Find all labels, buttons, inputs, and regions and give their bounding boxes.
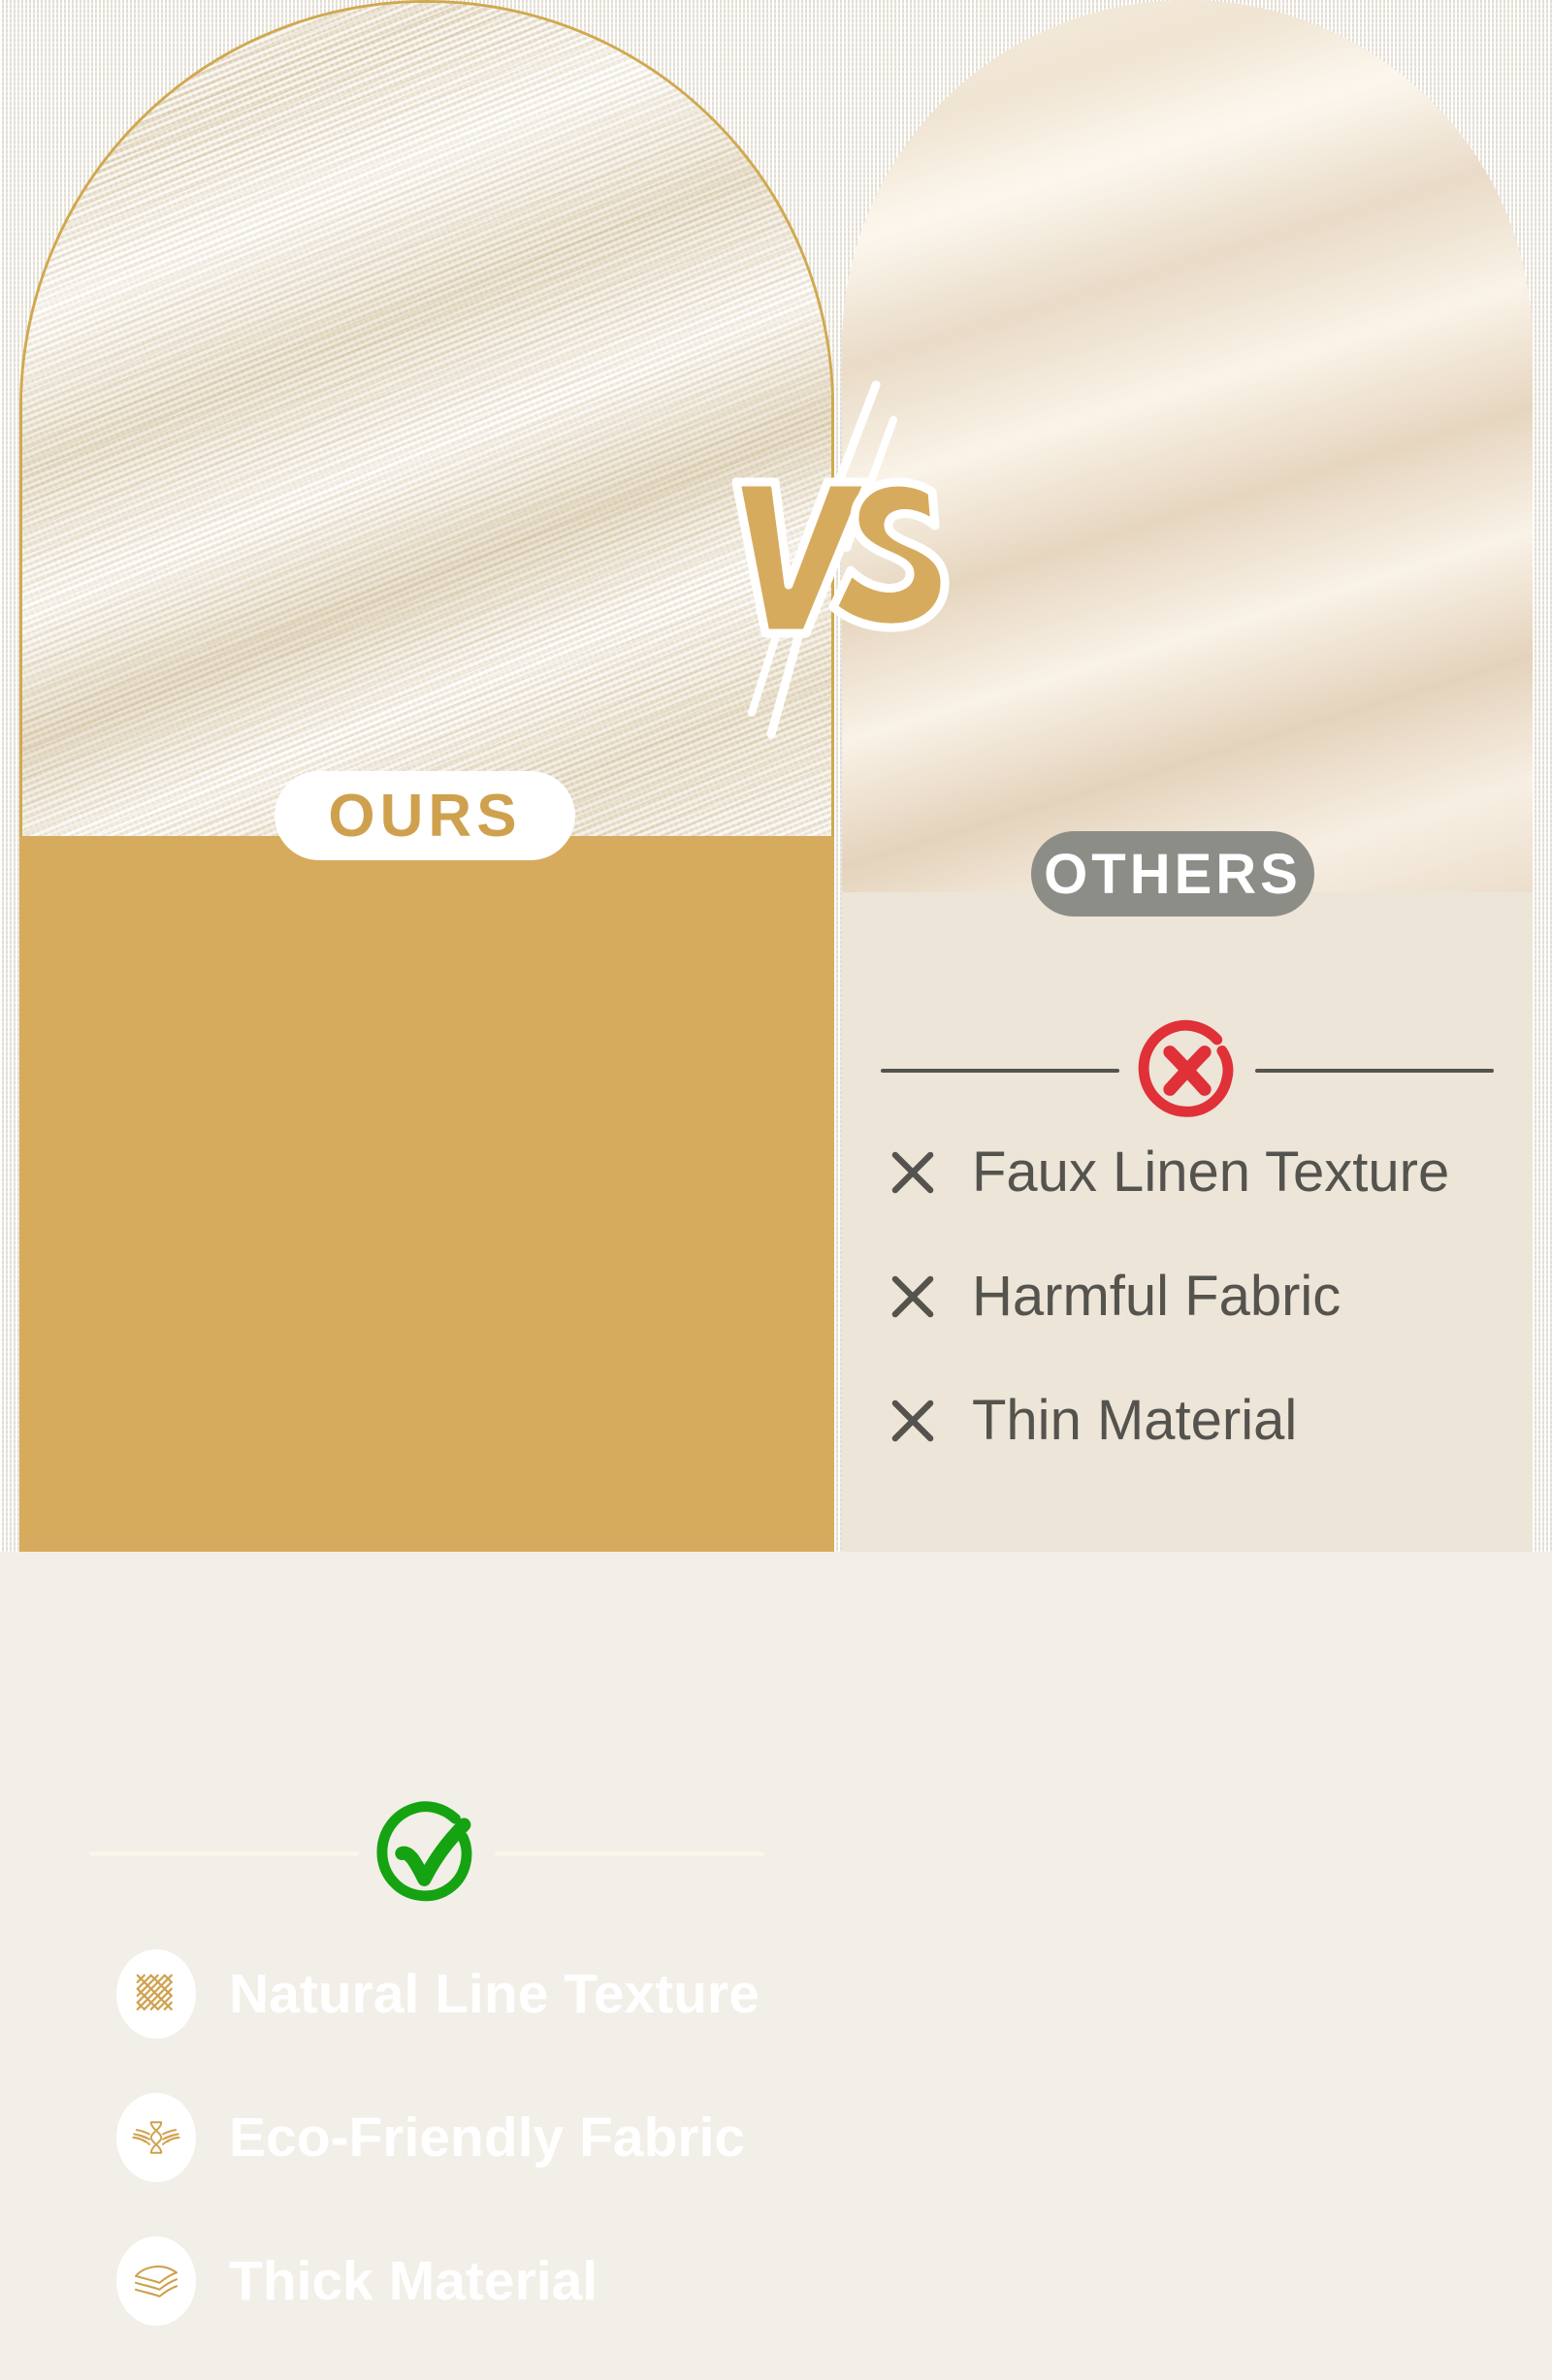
- divider-rule-left: [881, 1069, 1119, 1073]
- comparison-infographic: Natural Line Texture: [0, 0, 1552, 1552]
- list-item: Eco-Friendly Fabric: [116, 2093, 834, 2182]
- weave-texture-icon: [116, 1949, 196, 2039]
- divider-rule-right: [1255, 1069, 1494, 1073]
- list-item: Thin Material: [883, 1391, 1552, 1451]
- check-circle-icon: [365, 1791, 489, 1915]
- ours-verdict-divider: [19, 1791, 834, 1915]
- list-item: Thick Material: [116, 2236, 834, 2326]
- winged-hourglass-icon: [116, 2093, 196, 2182]
- feature-label: Harmful Fabric: [972, 1269, 1341, 1325]
- feature-label: Faux Linen Texture: [972, 1144, 1449, 1201]
- feature-label: Thick Material: [229, 2254, 598, 2309]
- others-feature-list: Faux Linen Texture Harmful Fabric Thin M…: [0, 1142, 1552, 1515]
- divider-rule-left: [89, 1851, 359, 1856]
- feature-label: Eco-Friendly Fabric: [229, 2110, 745, 2166]
- ours-badge: OURS: [275, 771, 575, 860]
- ours-feature-list: Natural Line Texture: [19, 1949, 834, 2380]
- feature-label: Thin Material: [972, 1393, 1297, 1449]
- cross-circle-icon: [1125, 1009, 1249, 1133]
- list-item: Natural Line Texture: [116, 1949, 834, 2039]
- others-fabric-photo: [842, 0, 1533, 912]
- others-photo-arch: [842, 0, 1533, 912]
- x-icon: [883, 1142, 943, 1203]
- x-icon: [883, 1267, 943, 1327]
- layers-icon: [116, 2236, 196, 2326]
- list-item: Faux Linen Texture: [883, 1142, 1552, 1203]
- others-badge: OTHERS: [1031, 831, 1314, 917]
- list-item: Harmful Fabric: [883, 1267, 1552, 1327]
- x-icon: [883, 1391, 943, 1451]
- feature-label: Natural Line Texture: [229, 1967, 760, 2022]
- divider-rule-right: [495, 1851, 764, 1856]
- others-verdict-divider: [842, 1009, 1533, 1133]
- ours-photo-arch: [19, 0, 834, 853]
- ours-fabric-photo: [19, 0, 834, 853]
